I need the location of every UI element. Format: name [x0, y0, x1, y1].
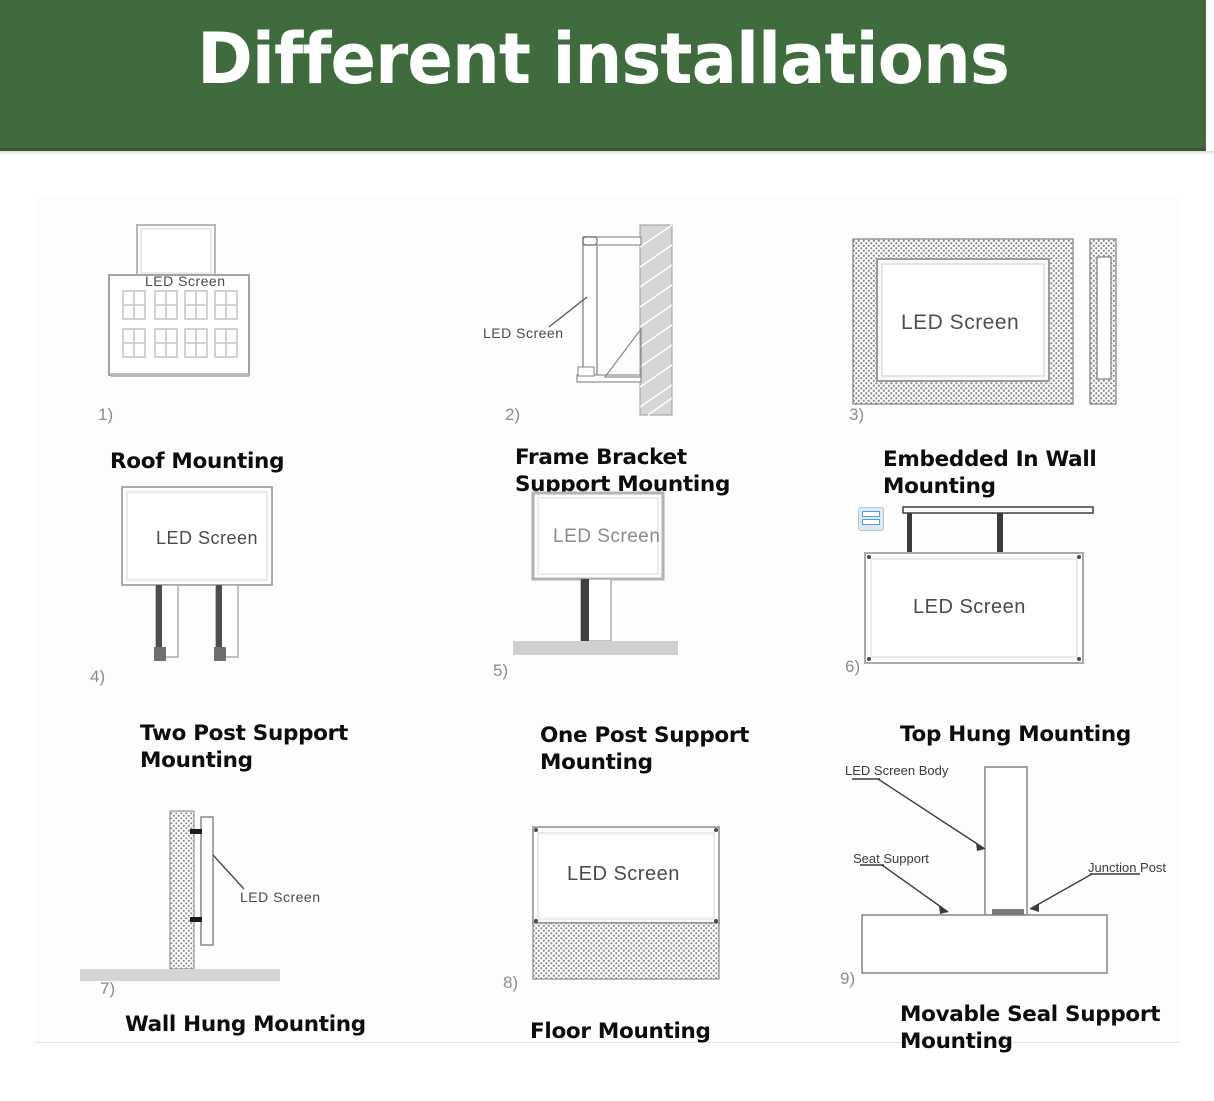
figure-caption: Wall Hung Mounting — [125, 1012, 366, 1039]
floor-mounting-diagram — [485, 797, 765, 997]
figure-number: 6) — [845, 657, 860, 677]
roof-mounting-diagram — [65, 217, 325, 432]
one-post-support-diagram — [475, 479, 735, 694]
figure-caption: Floor Mounting — [530, 1019, 711, 1046]
figure-number: 1) — [98, 405, 113, 425]
figure-cell-floor-mounting: LED Screen 8) Floor Mounting — [485, 797, 825, 1047]
wall-hung-diagram — [70, 797, 370, 997]
figure-number: 5) — [493, 661, 508, 681]
figure-number: 2) — [505, 405, 520, 425]
figure-cell-roof-mounting: LED Screen 1) Roof Mounting — [65, 217, 405, 492]
figure-caption: Roof Mounting — [110, 449, 284, 476]
figure-cell-embedded-in-wall: LED Screen 3) Embedded In Wall Mounting — [835, 217, 1175, 492]
screen-label: LED Screen — [145, 273, 225, 289]
movable-seal-support-diagram — [840, 757, 1170, 1007]
annotation-junction-post: Junction Post — [1088, 860, 1166, 875]
figure-caption: One Post Support Mounting — [540, 723, 749, 777]
installations-panel: LED Screen 1) Roof Mounting — [35, 197, 1180, 1043]
figure-cell-one-post-support: LED Screen 5) One Post Support Mounting — [475, 479, 815, 769]
screen-label: LED Screen — [913, 596, 1026, 619]
two-post-support-diagram — [70, 479, 330, 694]
figure-number: 3) — [849, 405, 864, 425]
figure-caption: Two Post Support Mounting — [140, 721, 348, 775]
annotation-seat-support: Seat Support — [853, 851, 929, 866]
figure-number: 9) — [840, 969, 855, 989]
figure-caption: Top Hung Mounting — [900, 722, 1131, 749]
header-banner: Different installations — [0, 0, 1206, 151]
figure-cell-wall-hung: LED Screen 7) Wall Hung Mounting — [70, 797, 410, 1047]
screen-label: LED Screen — [156, 528, 258, 549]
broken-image-icon — [858, 507, 884, 531]
page-title: Different installations — [24, 24, 1182, 94]
figure-number: 4) — [90, 667, 105, 687]
header-divider — [0, 151, 1214, 155]
screen-label: LED Screen — [901, 311, 1019, 335]
screen-label: LED Screen — [240, 889, 320, 905]
screen-label: LED Screen — [483, 325, 563, 341]
figure-cell-two-post-support: LED Screen 4) Two Post Support Mounting — [70, 479, 410, 769]
annotation-led-screen-body: LED Screen Body — [845, 763, 948, 778]
figure-cell-frame-bracket: LED Screen 2) Frame Bracket Support Moun… — [465, 217, 805, 492]
figure-caption: Movable Seal Support Mounting — [900, 1002, 1160, 1056]
figure-cell-top-hung: LED Screen 6) Top Hung Mounting — [845, 479, 1185, 769]
figure-cell-movable-seal-support: LED Screen Body Seat Support Junction Po… — [840, 757, 1185, 1047]
figure-number: 8) — [503, 973, 518, 993]
screen-label: LED Screen — [567, 863, 680, 886]
screen-label: LED Screen — [553, 526, 660, 548]
figure-number: 7) — [100, 979, 115, 999]
top-hung-diagram — [845, 479, 1125, 694]
